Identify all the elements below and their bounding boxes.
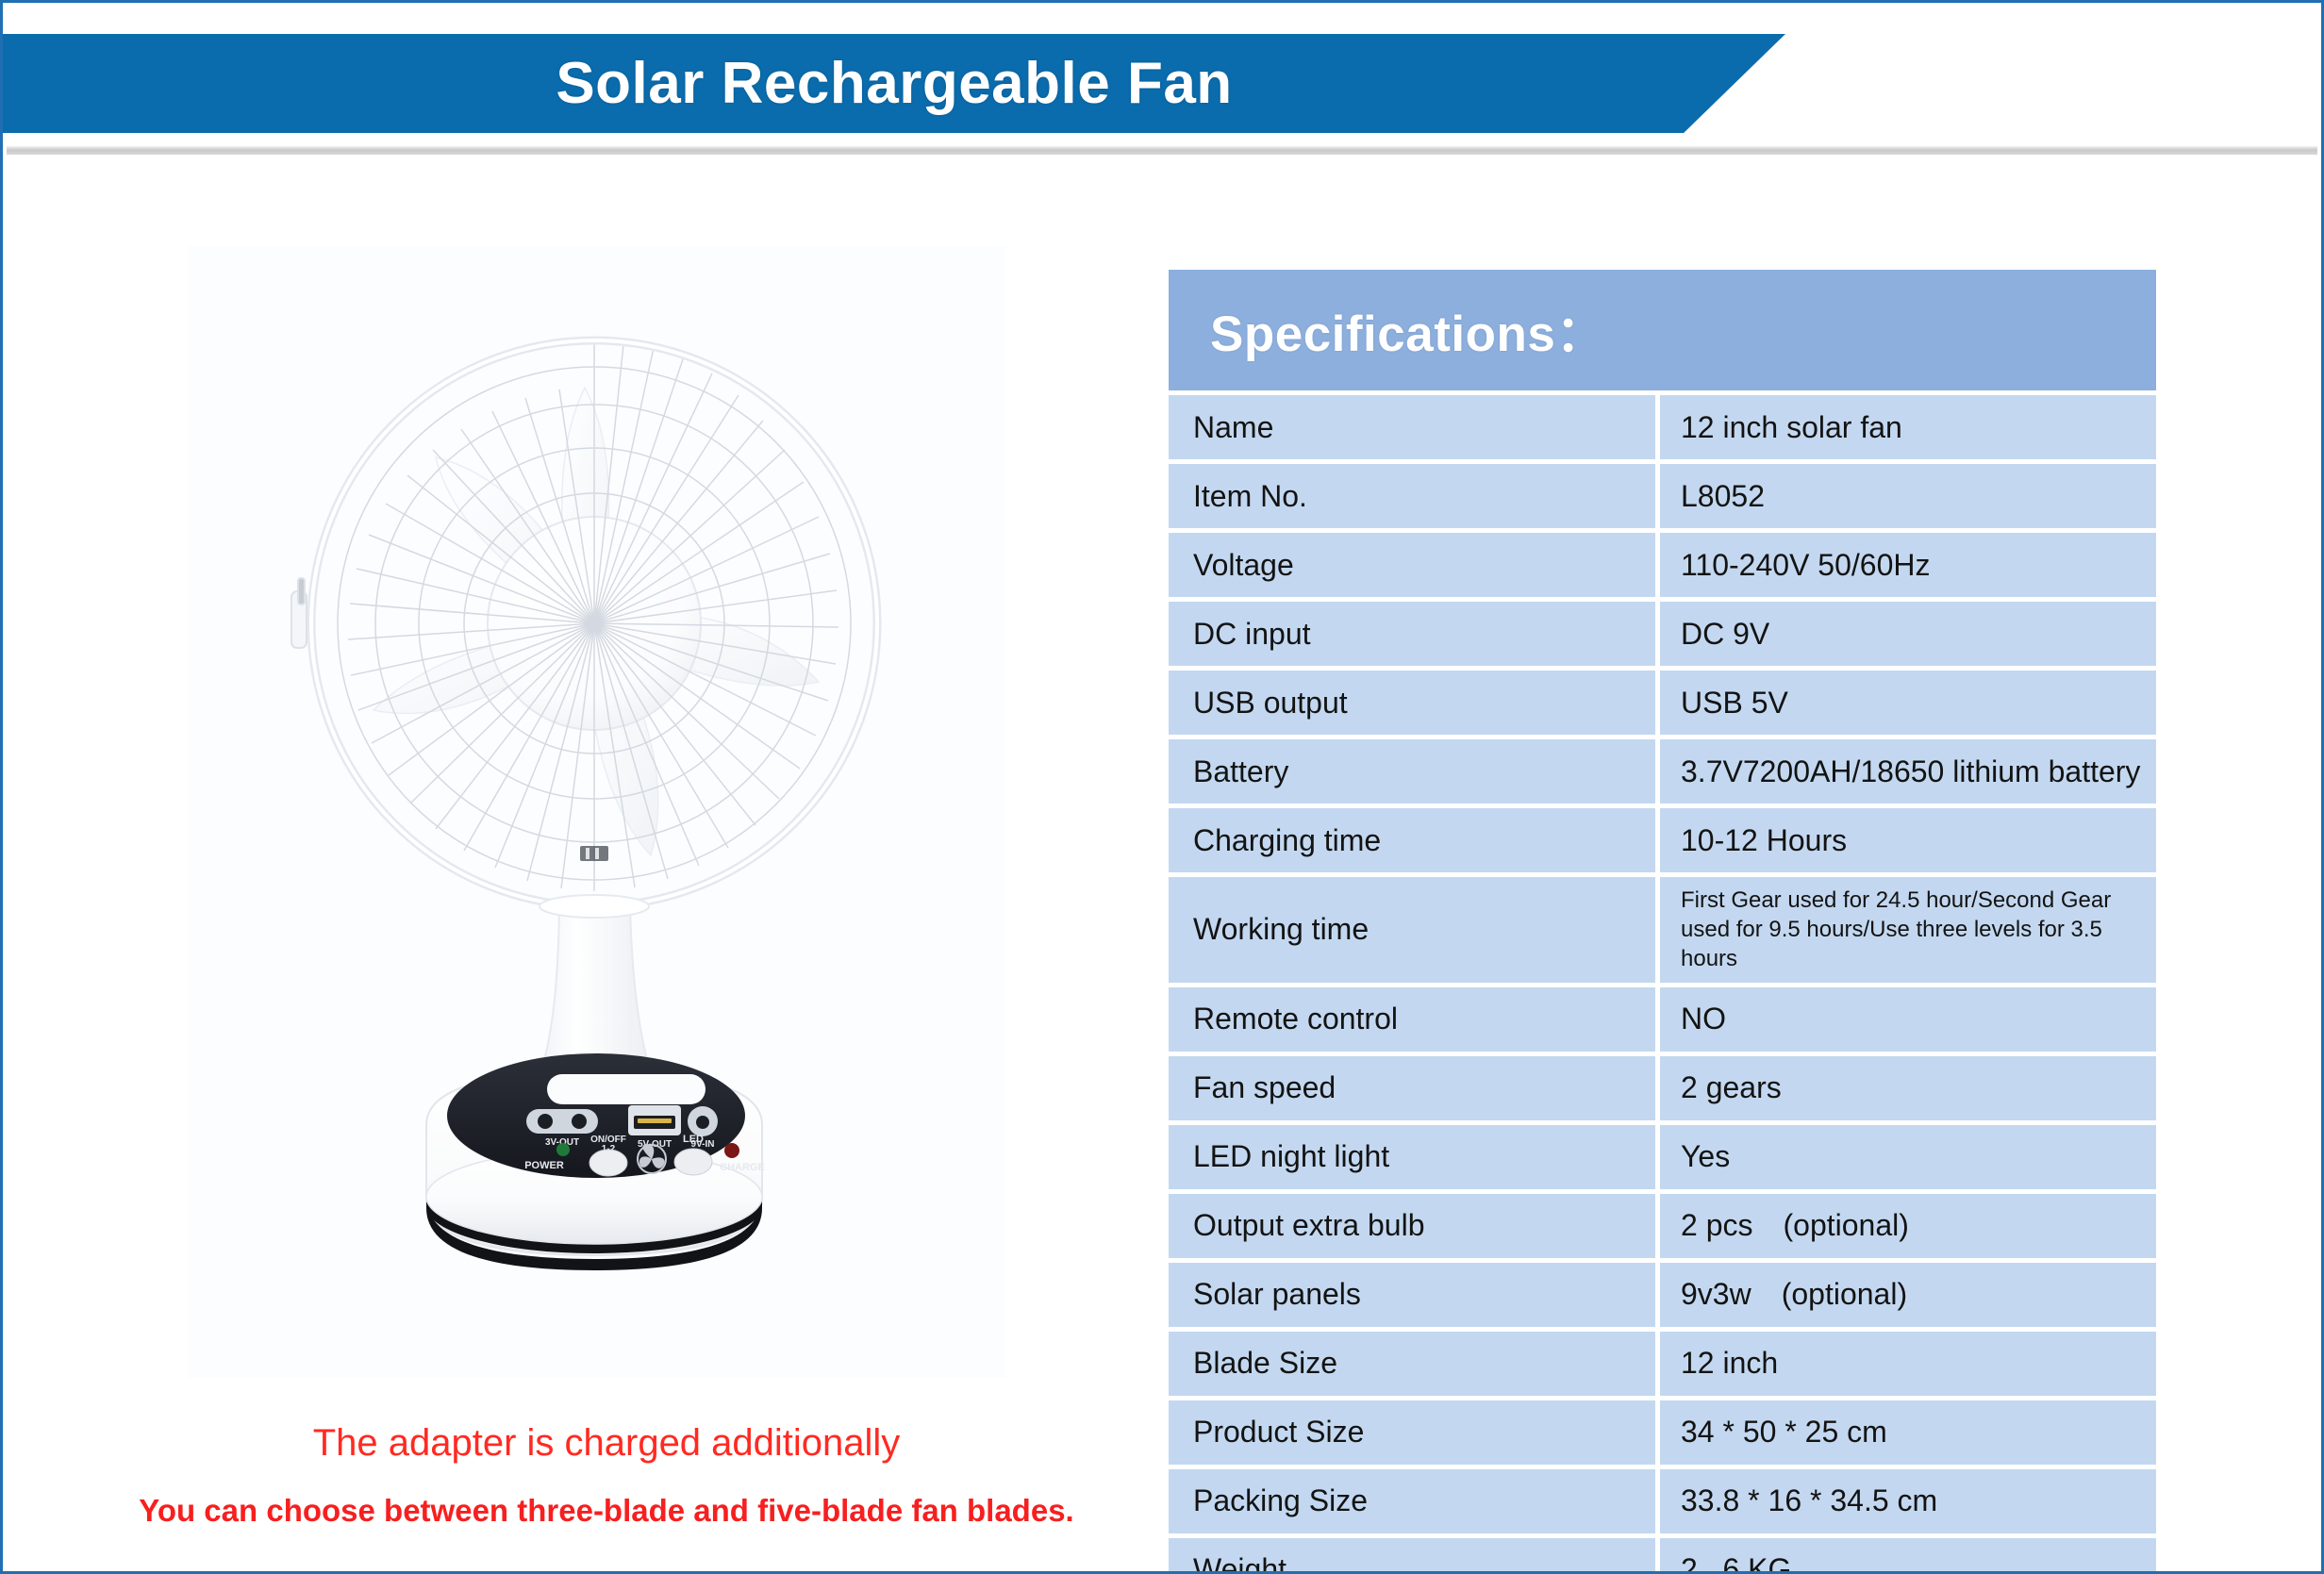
row-label: DC input [1169, 602, 1655, 666]
row-value-text: First Gear used for 24.5 hour/Second Gea… [1681, 886, 2156, 974]
row-value: 12 inch [1660, 1332, 2156, 1396]
row-label: LED night light [1169, 1125, 1655, 1189]
row-value: 33.8 * 16 * 34.5 cm [1660, 1469, 2156, 1533]
row-value: DC 9V [1660, 602, 2156, 666]
onoff-button: ON/OFF 1-2 [589, 1135, 627, 1176]
row-label: Battery [1169, 739, 1655, 804]
row-value: Yes [1660, 1125, 2156, 1189]
row-label: USB output [1169, 671, 1655, 735]
table-row: LED night light Yes [1169, 1125, 2156, 1189]
svg-text:CHARGE: CHARGE [720, 1162, 765, 1173]
row-label: Charging time [1169, 808, 1655, 872]
row-label: Packing Size [1169, 1469, 1655, 1533]
table-row: Battery 3.7V7200AH/18650 lithium battery [1169, 739, 2156, 804]
table-row: Fan speed 2 gears [1169, 1056, 2156, 1120]
row-value: 2 gears [1660, 1056, 2156, 1120]
table-row: Working time First Gear used for 24.5 ho… [1169, 877, 2156, 983]
row-label: Output extra bulb [1169, 1194, 1655, 1258]
svg-text:LED: LED [683, 1134, 704, 1145]
table-row: Product Size 34 * 50 * 25 cm [1169, 1400, 2156, 1465]
row-label: Solar panels [1169, 1263, 1655, 1327]
row-value: 110-240V 50/60Hz [1660, 533, 2156, 597]
row-label: Fan speed [1169, 1056, 1655, 1120]
header-divider-rule [7, 146, 2317, 155]
fan-base: 3V-OUT 5V-OUT 9V-IN POWER [426, 1053, 765, 1270]
table-row: Output extra bulb 2 pcs (optional) [1169, 1194, 2156, 1258]
table-row: Weight 2 . 6 KG [1169, 1538, 2156, 1574]
table-row: Remote control NO [1169, 987, 2156, 1052]
product-fan-image: 3V-OUT 5V-OUT 9V-IN POWER [189, 246, 1005, 1378]
svg-text:POWER: POWER [524, 1160, 564, 1171]
specifications-title: Specifications： [1210, 294, 1606, 366]
row-value: USB 5V [1660, 671, 2156, 735]
row-label: Remote control [1169, 987, 1655, 1052]
table-row: Name 12 inch solar fan [1169, 395, 2156, 459]
note-blade-choice: You can choose between three-blade and f… [78, 1493, 1135, 1529]
page-banner: Solar Rechargeable Fan [3, 34, 2321, 133]
table-row: Charging time 10-12 Hours [1169, 808, 2156, 872]
specifications-table: Specifications： Name 12 inch solar fan I… [1169, 270, 2156, 1574]
row-label: Name [1169, 395, 1655, 459]
product-image-panel: 3V-OUT 5V-OUT 9V-IN POWER [189, 246, 1005, 1378]
row-label: Item No. [1169, 464, 1655, 528]
hub-cap-detail [580, 846, 608, 861]
specifications-header: Specifications： [1169, 270, 2156, 390]
row-value: 2 pcs (optional) [1660, 1194, 2156, 1258]
row-value: NO [1660, 987, 2156, 1052]
led-light-bar [547, 1074, 705, 1104]
row-value: 12 inch solar fan [1660, 395, 2156, 459]
row-label: Weight [1169, 1538, 1655, 1574]
table-row: USB output USB 5V [1169, 671, 2156, 735]
row-value: 2 . 6 KG [1660, 1538, 2156, 1574]
table-row: DC input DC 9V [1169, 602, 2156, 666]
row-value: First Gear used for 24.5 hour/Second Gea… [1660, 877, 2156, 983]
row-value: 9v3w (optional) [1660, 1263, 2156, 1327]
table-row: Solar panels 9v3w (optional) [1169, 1263, 2156, 1327]
product-spec-page: Solar Rechargeable Fan [0, 0, 2324, 1574]
row-value: 10-12 Hours [1660, 808, 2156, 872]
table-row: Blade Size 12 inch [1169, 1332, 2156, 1396]
table-row: Item No. L8052 [1169, 464, 2156, 528]
row-label: Blade Size [1169, 1332, 1655, 1396]
row-value: 34 * 50 * 25 cm [1660, 1400, 2156, 1465]
row-value: L8052 [1660, 464, 2156, 528]
table-row: Voltage 110-240V 50/60Hz [1169, 533, 2156, 597]
table-row: Packing Size 33.8 * 16 * 34.5 cm [1169, 1469, 2156, 1533]
row-label: Product Size [1169, 1400, 1655, 1465]
row-label: Working time [1169, 877, 1655, 983]
page-title: Solar Rechargeable Fan [3, 34, 1785, 133]
row-label: Voltage [1169, 533, 1655, 597]
note-adapter-charged: The adapter is charged additionally [135, 1422, 1078, 1465]
row-value: 3.7V7200AH/18650 lithium battery [1660, 739, 2156, 804]
